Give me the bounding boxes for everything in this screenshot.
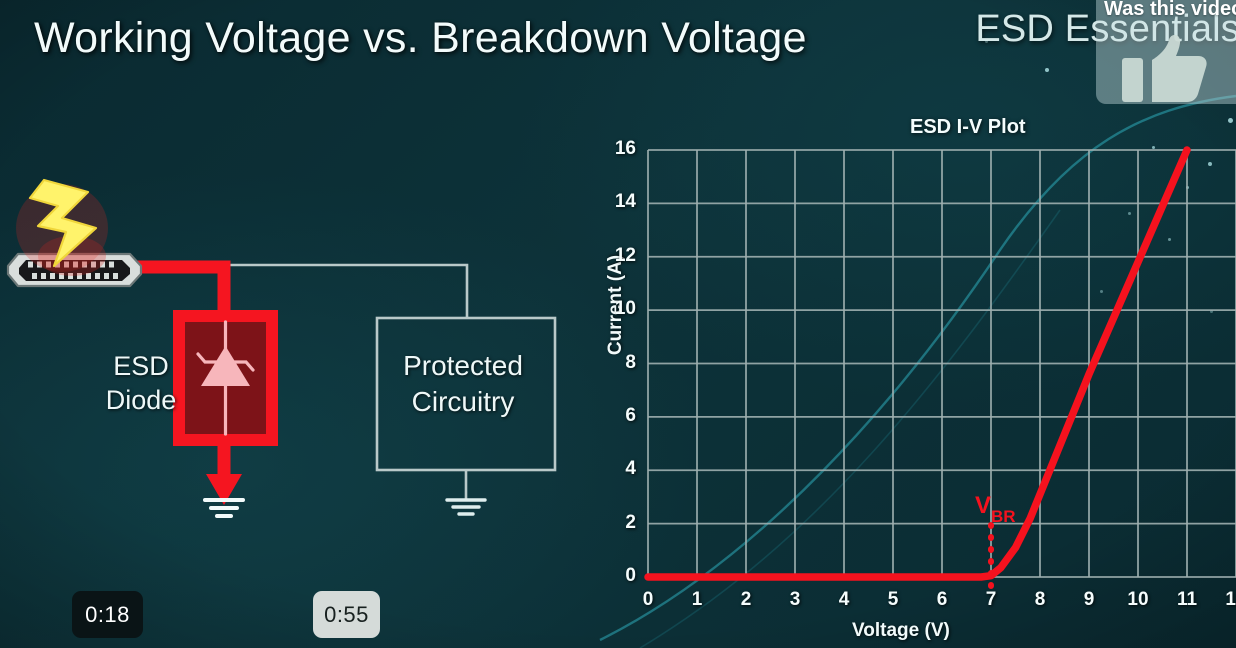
svg-text:BR: BR [991,507,1016,526]
slide-canvas: Working Voltage vs. Breakdown Voltage ES… [0,0,1236,648]
protected-circuitry-line2: Circuitry [368,384,558,420]
video-survey-overlay[interactable]: Was this video [1096,0,1236,104]
esd-protection-circuit: ESD Diode Protected Circuitry [0,170,600,550]
timestamp-badge-end[interactable]: 0:55 [313,591,380,638]
svg-text:V: V [975,492,991,519]
page-title: Working Voltage vs. Breakdown Voltage [34,14,807,63]
timestamp-badge-start[interactable]: 0:18 [72,591,143,638]
iv-plot: ESD I-V Plot Current (A) Voltage (V) 024… [580,108,1236,648]
esd-diode-label: ESD Diode [86,350,196,418]
protected-circuitry-label: Protected Circuitry [368,348,558,421]
esd-diode-label-line2: Diode [86,384,196,418]
esd-diode-label-line1: ESD [86,350,196,384]
protected-circuitry-line1: Protected [368,348,558,384]
survey-prompt: Was this video [1104,0,1236,21]
plot-area: VBR [580,108,1236,648]
thumbs-up-icon[interactable] [1122,34,1210,104]
